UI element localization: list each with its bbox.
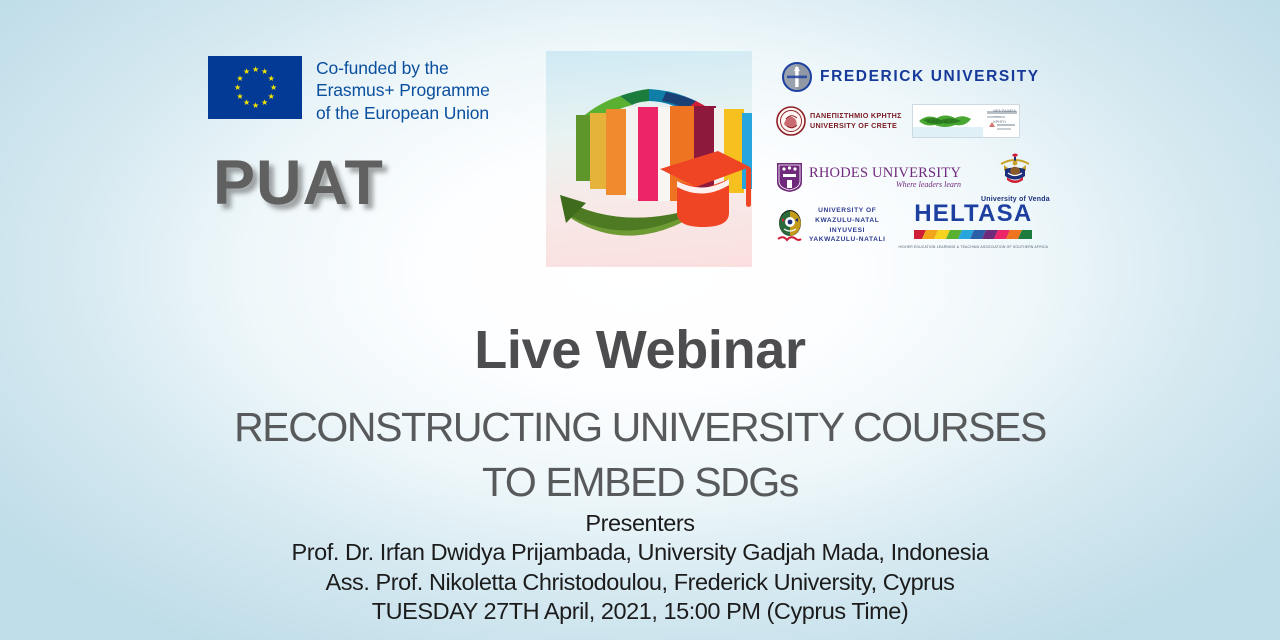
ukzn-crest-icon bbox=[776, 209, 804, 243]
eu-star-icon: ★ bbox=[261, 69, 267, 75]
page-title: Live Webinar bbox=[0, 322, 1280, 379]
eu-star-icon: ★ bbox=[243, 69, 249, 75]
eu-star-icon: ★ bbox=[252, 67, 258, 73]
ukzn-university-name: UNIVERSITY OF KWAZULU-NATAL INYUVESI YAK… bbox=[809, 206, 886, 244]
page-subtitle: RECONSTRUCTING UNIVERSITY COURSES TO EMB… bbox=[0, 400, 1280, 509]
partner-rhodes-and-venda: RHODES UNIVERSITY Where leaders learn Un… bbox=[776, 152, 1050, 203]
eu-erasmus-logo: ★★★★★★★★★★★★ Co-funded by the Erasmus+ P… bbox=[208, 56, 490, 124]
eu-star-icon: ★ bbox=[261, 100, 267, 106]
rhodes-university-tagline: Where leaders learn bbox=[809, 181, 961, 189]
partner-heltasa: HELTASA HIGHER EDUCATION LEARNING & TEAC… bbox=[899, 202, 1049, 249]
frederick-university-name: FREDERICK UNIVERSITY bbox=[820, 68, 1040, 86]
eu-funding-text: Co-funded by the Erasmus+ Programme of t… bbox=[316, 56, 490, 124]
heltasa-subtitle: HIGHER EDUCATION LEARNING & TEACHING ASS… bbox=[899, 245, 1049, 249]
eu-star-icon: ★ bbox=[268, 76, 274, 82]
eu-star-icon: ★ bbox=[268, 94, 274, 100]
eu-star-icon: ★ bbox=[234, 85, 240, 91]
crete-seal-icon bbox=[776, 106, 806, 136]
crete-university-name: ΠΑΝΕΠΙΣΤΗΜΙΟ ΚΡΗΤΗΣ UNIVERSITY OF CRETE bbox=[810, 111, 902, 130]
heltasa-chevron-bar-icon bbox=[914, 230, 1032, 239]
rhodes-text-block: RHODES UNIVERSITY Where leaders learn bbox=[809, 166, 961, 190]
svg-text:ΚΡΗΤΗ: ΚΡΗΤΗ bbox=[927, 120, 948, 126]
eu-star-icon: ★ bbox=[252, 103, 258, 109]
logo-band: ★★★★★★★★★★★★ Co-funded by the Erasmus+ P… bbox=[0, 0, 1280, 285]
eu-star-icon: ★ bbox=[236, 94, 242, 100]
venda-crest-icon bbox=[995, 152, 1035, 190]
eu-star-icon: ★ bbox=[236, 76, 242, 82]
partner-frederick-university: FREDERICK UNIVERSITY bbox=[776, 62, 1050, 92]
puat-wordmark: PUAT bbox=[213, 152, 384, 215]
frederick-emblem-icon bbox=[782, 62, 812, 92]
partner-logos: FREDERICK UNIVERSITY ΠΑΝΕΠΙΣΤΗΜΙΟ ΚΡΗΤΗΣ… bbox=[776, 52, 1050, 270]
eu-star-icon: ★ bbox=[270, 85, 276, 91]
rhodes-university-name: RHODES UNIVERSITY bbox=[809, 166, 961, 181]
eu-flag-icon: ★★★★★★★★★★★★ bbox=[208, 56, 302, 119]
rhodes-crest-icon bbox=[776, 162, 803, 193]
eu-star-icon: ★ bbox=[243, 100, 249, 106]
heltasa-name: HELTASA bbox=[899, 202, 1049, 226]
sdg-graduation-logo bbox=[546, 51, 752, 267]
crete-map-caption: ΝΕΑ ΠΑΙΔΕΙΑ —— ΚΡΗΤΗ bbox=[993, 109, 1015, 125]
partner-university-of-venda: University of Venda bbox=[981, 152, 1050, 203]
partner-ukzn-and-heltasa: UNIVERSITY OF KWAZULU-NATAL INYUVESI YAK… bbox=[776, 202, 1050, 249]
presenters-block: Presenters Prof. Dr. Irfan Dwidya Prijam… bbox=[0, 509, 1280, 627]
crete-map-badge: ΚΡΗΤΗ ΝΕΑ ΠΑΙΔΕΙΑ —— ΚΡΗΤΗ bbox=[912, 104, 1020, 138]
sdg-wheel-graphic bbox=[546, 51, 752, 267]
partner-university-of-crete: ΠΑΝΕΠΙΣΤΗΜΙΟ ΚΡΗΤΗΣ UNIVERSITY OF CRETE … bbox=[776, 104, 1050, 138]
